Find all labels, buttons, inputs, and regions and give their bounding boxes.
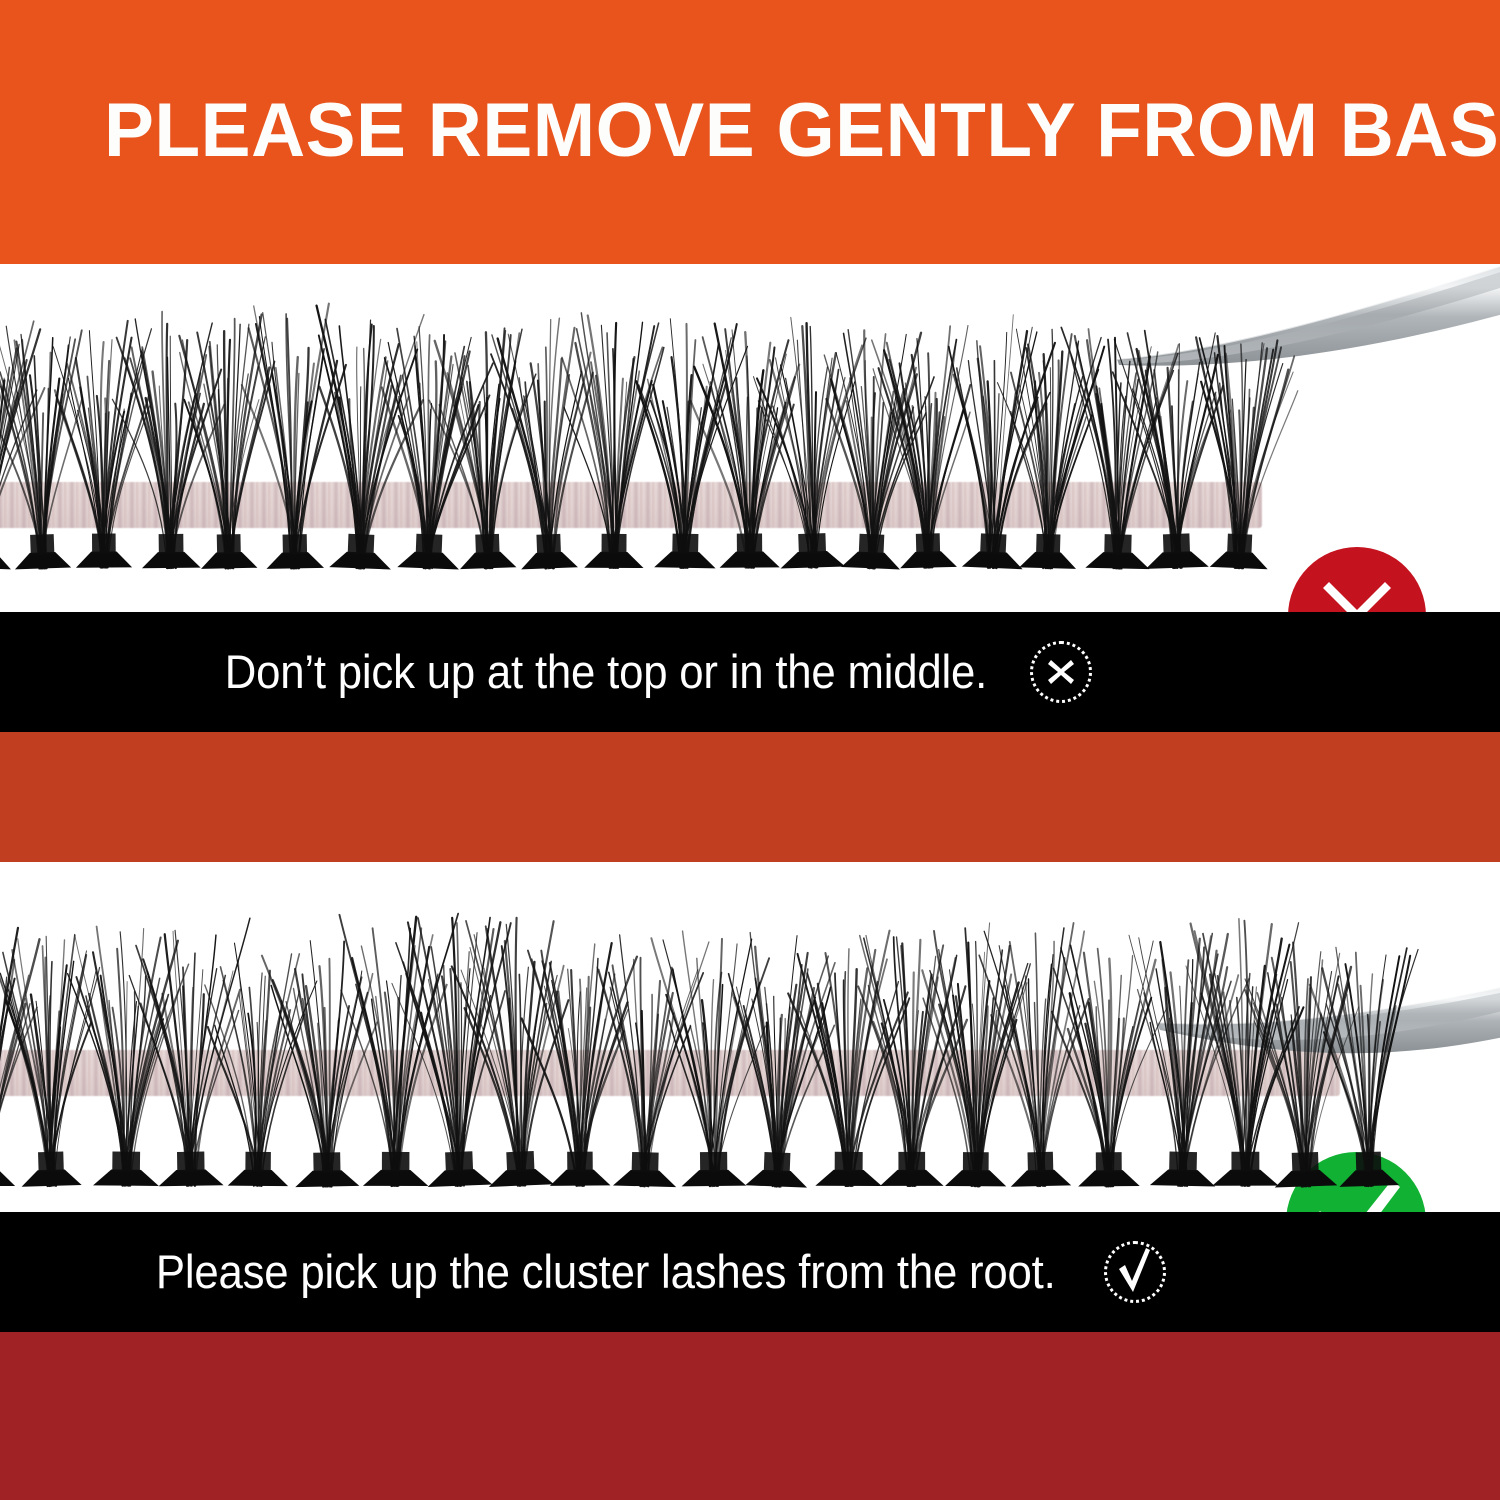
lash-cluster bbox=[1058, 325, 1182, 569]
lash-cluster bbox=[1122, 925, 1249, 1187]
page-title: PLEASE REMOVE GENTLY FROM BASE bbox=[104, 88, 1385, 174]
divider-band-middle bbox=[0, 732, 1500, 862]
lash-cluster bbox=[1185, 328, 1302, 570]
lash-cluster bbox=[335, 913, 457, 1186]
caption-banner-correct: Please pick up the cluster lashes from t… bbox=[0, 1212, 1500, 1332]
photo-correct-grip bbox=[0, 862, 1500, 1212]
lash-cluster bbox=[0, 923, 41, 1186]
lash-cluster bbox=[172, 308, 282, 569]
cross-icon bbox=[1030, 641, 1092, 703]
caption-text-incorrect: Don’t pick up at the top or in the middl… bbox=[225, 644, 987, 700]
lash-cluster bbox=[428, 324, 541, 570]
lash-cluster bbox=[449, 911, 581, 1188]
caption-text-correct: Please pick up the cluster lashes from t… bbox=[156, 1244, 1056, 1300]
check-icon bbox=[1104, 1241, 1166, 1303]
lash-cluster bbox=[50, 321, 156, 568]
lash-cluster bbox=[816, 324, 935, 571]
lash-cluster bbox=[936, 312, 1059, 571]
lash-cluster bbox=[303, 302, 428, 571]
lash-cluster bbox=[1240, 938, 1364, 1188]
lash-cluster bbox=[559, 313, 670, 569]
lash-cluster bbox=[65, 925, 190, 1187]
lash-cluster bbox=[719, 922, 843, 1189]
lash-strip-scene-top bbox=[0, 264, 1500, 612]
footer-band-bottom bbox=[0, 1332, 1500, 1500]
caption-banner-incorrect: Don’t pick up at the top or in the middl… bbox=[0, 612, 1500, 732]
lash-cluster bbox=[692, 322, 805, 568]
header-banner: PLEASE REMOVE GENTLY FROM BASE bbox=[0, 0, 1500, 264]
caption-row-incorrect: Don’t pick up at the top or in the middl… bbox=[0, 612, 1288, 732]
lash-cluster bbox=[586, 931, 709, 1187]
infographic-page: PLEASE REMOVE GENTLY FROM BASE bbox=[0, 0, 1500, 1500]
lash-cluster bbox=[202, 938, 316, 1187]
lash-strip-scene-bottom bbox=[0, 862, 1500, 1212]
caption-row-correct: Please pick up the cluster lashes from t… bbox=[0, 1212, 1288, 1332]
lash-cluster bbox=[979, 915, 1097, 1188]
photo-incorrect-grip bbox=[0, 264, 1500, 612]
lash-cluster bbox=[853, 934, 971, 1186]
